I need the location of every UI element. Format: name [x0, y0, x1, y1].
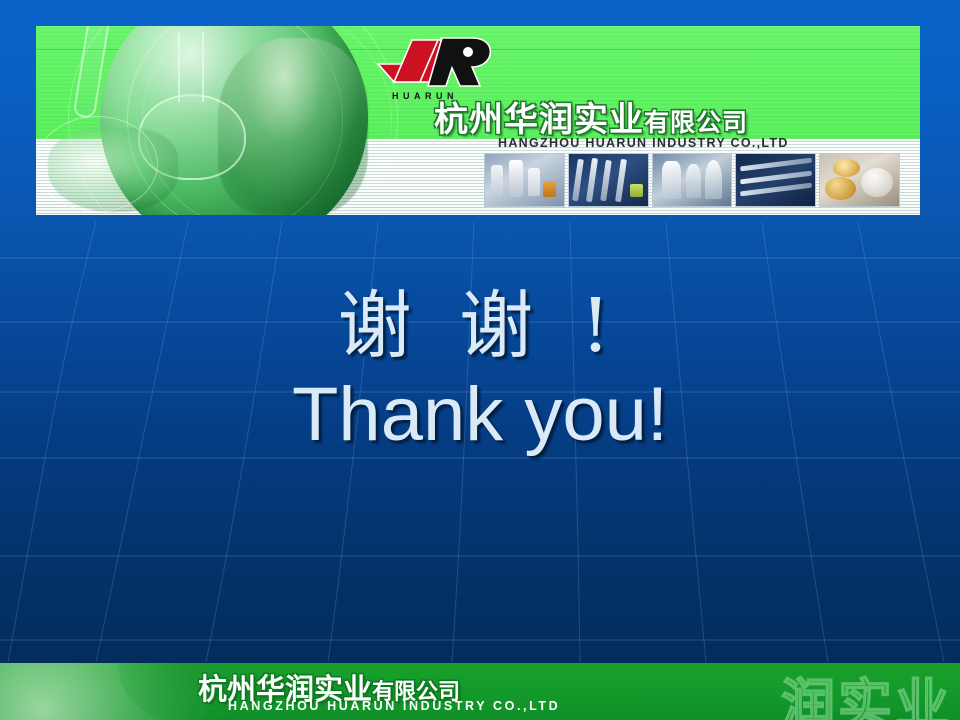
product-photo-pipettes	[568, 153, 649, 207]
product-photo-syringes	[735, 153, 816, 207]
product-photo-dropper-bottles	[652, 153, 733, 207]
thanks-english: Thank you!	[0, 377, 960, 453]
presentation-slide: HUARUN 杭州华润实业有限公司 HANGZHOU HUARUN INDUST…	[0, 0, 960, 720]
product-photo-strip	[484, 153, 900, 207]
banner-company-name-en: HANGZHOU HUARUN INDUSTRY CO.,LTD	[498, 136, 789, 150]
product-photo-spray-bottles	[484, 153, 565, 207]
footer-bar: 润实业 杭州华润实业有限公司 HANGZHOU HUARUN INDUSTRY …	[0, 663, 960, 720]
banner-company-main: 杭州华润实业	[434, 100, 644, 140]
product-photo-amber-jars	[819, 153, 900, 207]
company-banner: HUARUN 杭州华润实业有限公司 HANGZHOU HUARUN INDUST…	[36, 26, 920, 215]
banner-company-name-cn: 杭州华润实业有限公司	[434, 92, 748, 141]
footer-watermark: 润实业	[781, 663, 952, 720]
banner-company-suffix: 有限公司	[644, 108, 748, 137]
laboratory-photo	[36, 26, 417, 215]
footer-company-name-en: HANGZHOU HUARUN INDUSTRY CO.,LTD	[228, 699, 560, 713]
arc-decoration-2	[142, 26, 392, 215]
main-text-block: 谢 谢 ! Thank you!	[0, 288, 960, 453]
thanks-chinese: 谢 谢 !	[0, 288, 960, 365]
